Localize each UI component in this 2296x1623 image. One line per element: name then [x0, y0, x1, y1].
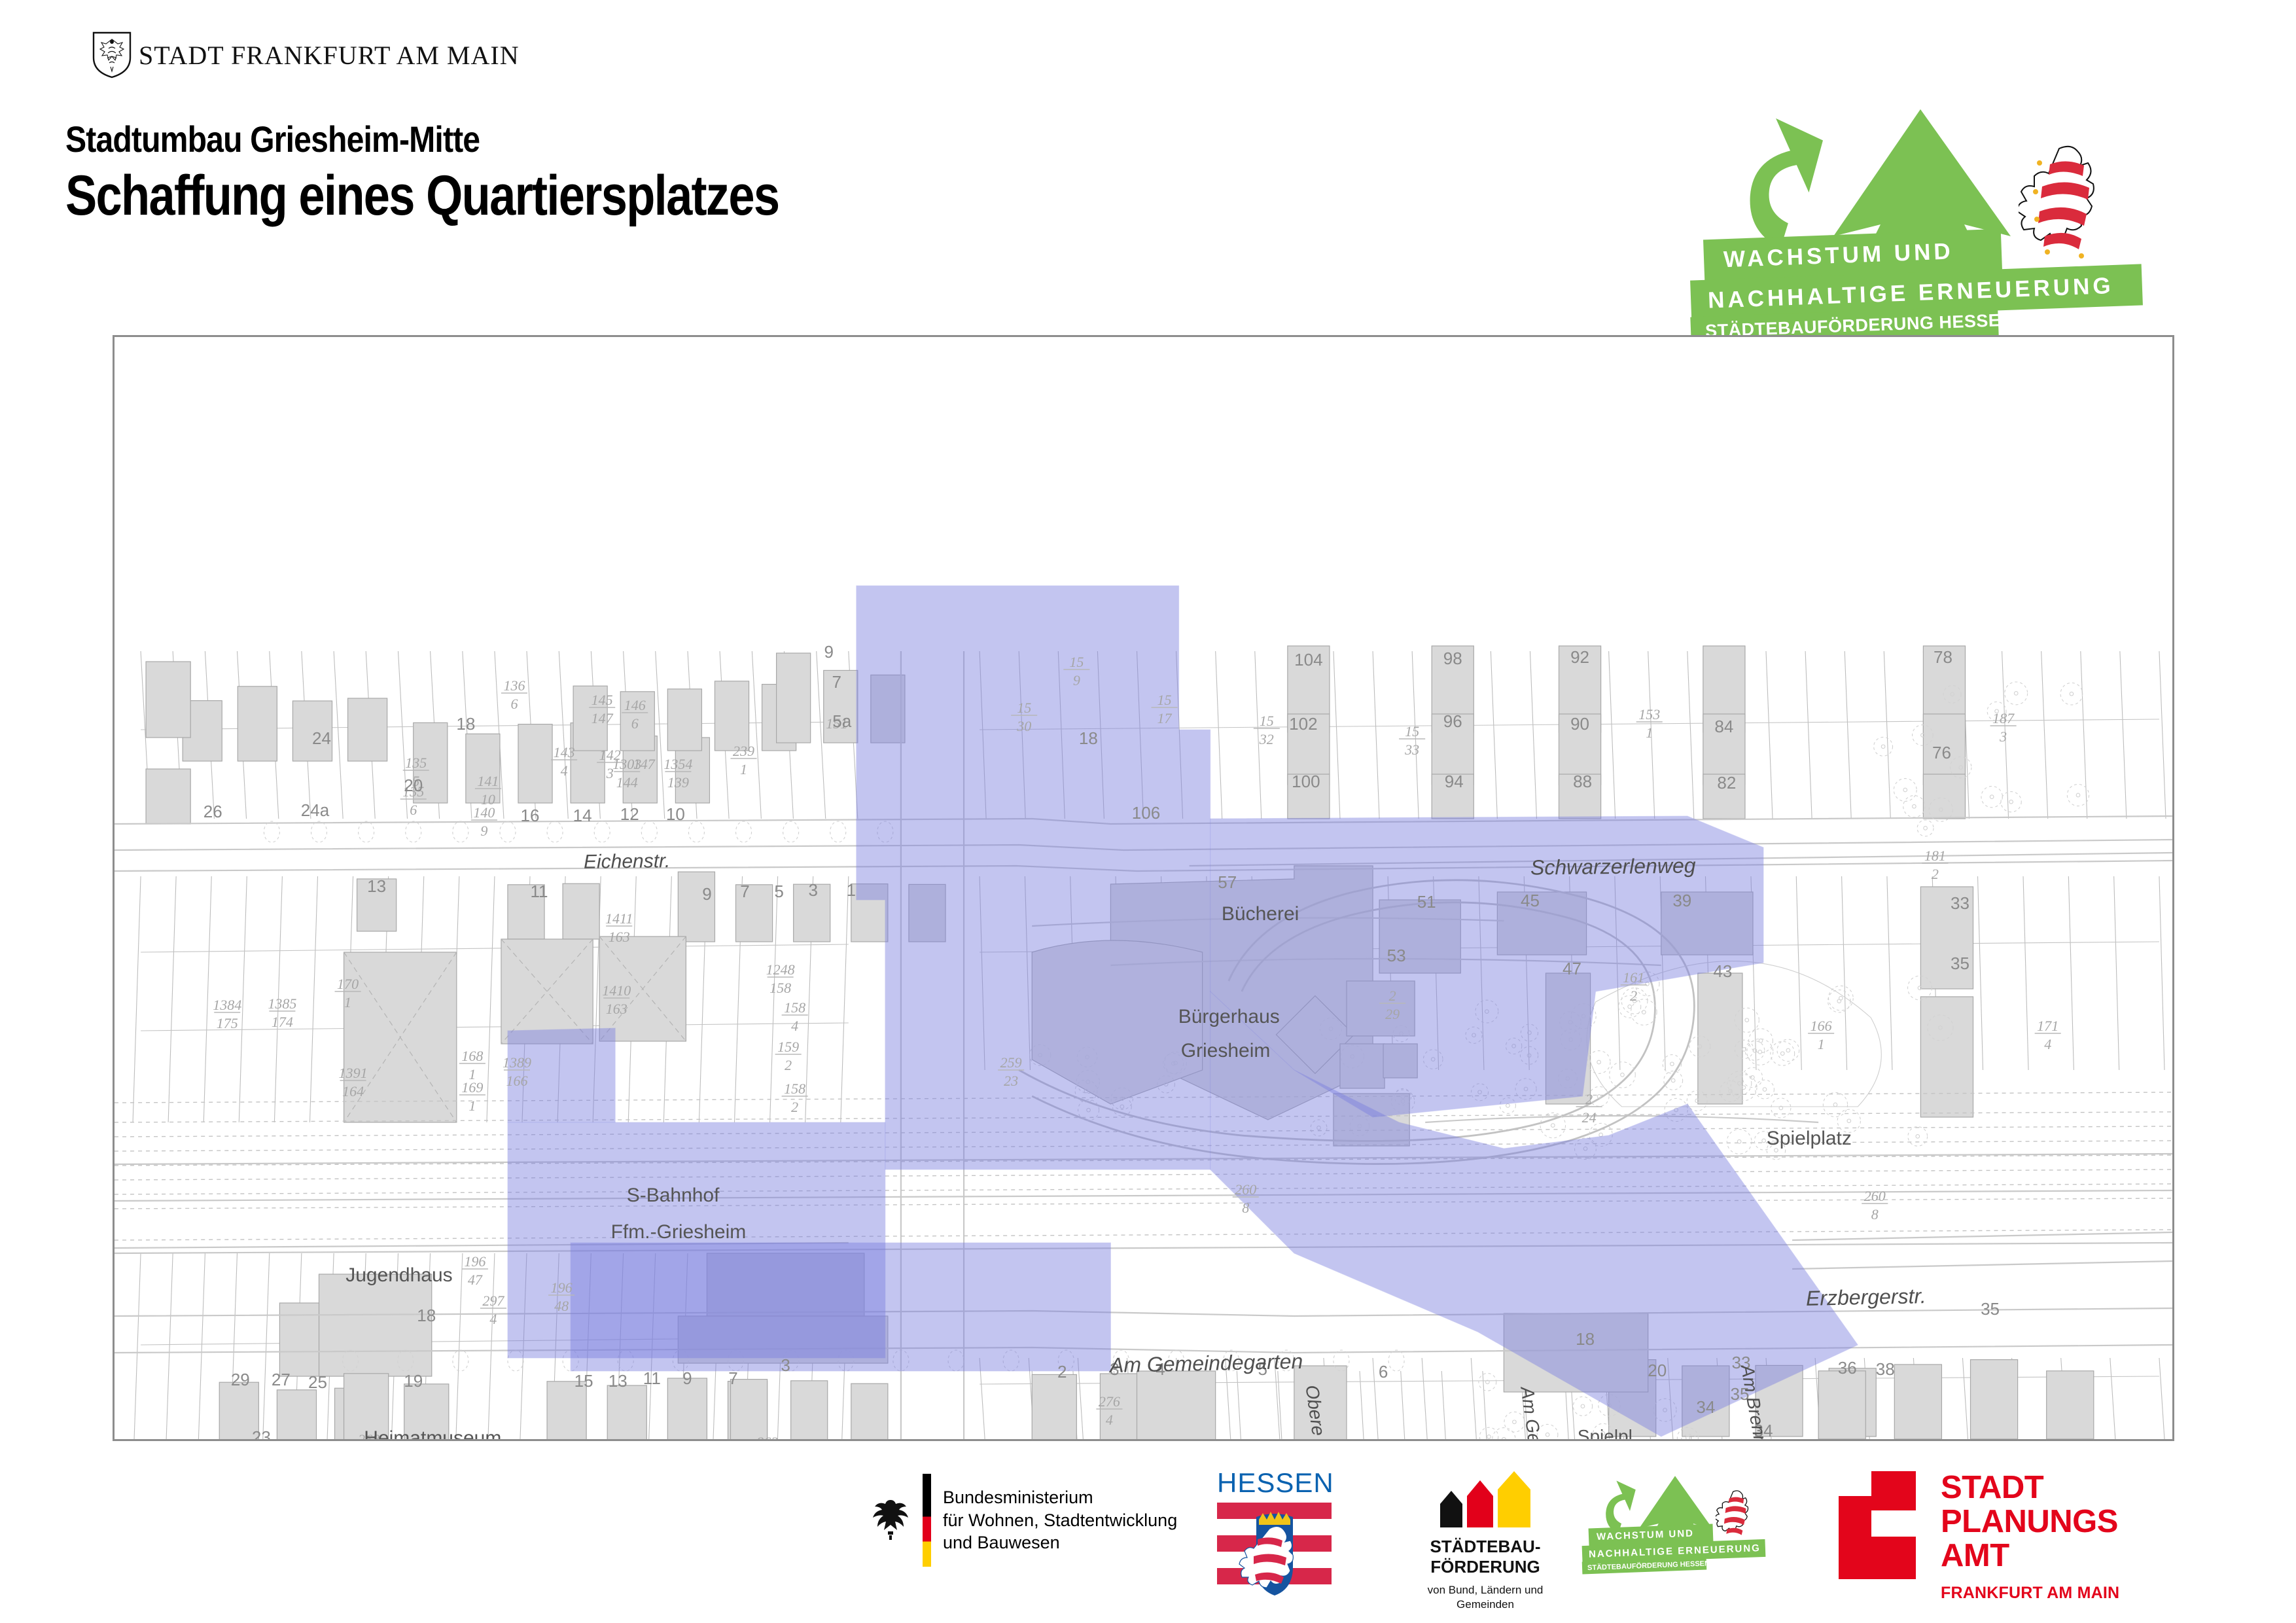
svg-text:1385: 1385 [268, 995, 296, 1012]
svg-text:11: 11 [531, 882, 548, 901]
wachstum-und-nachhaltige-erneuerung-logo: WACHSTUM UND NACHHALTIGE ERNEUERUNG STÄD… [1695, 111, 2192, 347]
staedtebau-line2: FÖRDERUNG [1407, 1557, 1564, 1577]
svg-text:8: 8 [1242, 1200, 1249, 1216]
svg-text:11: 11 [643, 1368, 661, 1388]
svg-text:27: 27 [272, 1370, 291, 1389]
svg-text:1411: 1411 [605, 910, 633, 927]
svg-text:175: 175 [217, 1015, 238, 1031]
svg-text:276: 276 [1099, 1393, 1120, 1410]
svg-text:5: 5 [774, 882, 783, 901]
svg-text:6: 6 [631, 715, 639, 732]
bmwsb-line2: für Wohnen, Stadtentwicklung [943, 1509, 1177, 1532]
staedtebau-sub2: Gemeinden [1407, 1597, 1564, 1612]
svg-text:144: 144 [616, 774, 638, 791]
hessen-shield-lion [1217, 1503, 1332, 1601]
svg-text:35: 35 [1951, 954, 1969, 973]
svg-text:3: 3 [1110, 1359, 1119, 1379]
svg-text:35: 35 [1730, 1384, 1749, 1404]
city-logo-stadt: STADT [139, 41, 224, 70]
svg-text:9: 9 [824, 642, 833, 662]
staedtebau-line1: STÄDTEBAU- [1407, 1537, 1564, 1557]
svg-text:48: 48 [554, 1298, 569, 1314]
svg-text:92: 92 [1570, 647, 1589, 667]
svg-text:164: 164 [342, 1083, 364, 1099]
svg-text:18: 18 [456, 714, 475, 734]
stadtplanungsamt-logo: STADT PLANUNGS AMT FRANKFURT AM MAIN [1839, 1471, 2119, 1603]
svg-text:10: 10 [666, 804, 685, 824]
svg-text:1: 1 [847, 880, 856, 900]
svg-text:171: 171 [2037, 1018, 2058, 1034]
svg-text:1354: 1354 [663, 756, 692, 772]
bmwsb-logo: Bundesministerium für Wohnen, Stadtentwi… [870, 1474, 1177, 1567]
spa-line3: AMT [1941, 1539, 2119, 1573]
map-vector-layer: 1366135513561354139239114110140914341423… [115, 337, 2172, 1439]
federal-eagle-icon [870, 1497, 911, 1543]
bmwsb-line3: und Bauwesen [943, 1531, 1177, 1554]
svg-text:30: 30 [1016, 718, 1031, 734]
svg-text:102: 102 [1289, 714, 1317, 734]
svg-text:169: 169 [461, 1079, 483, 1096]
svg-text:196: 196 [551, 1279, 573, 1296]
svg-text:2: 2 [1057, 1362, 1067, 1382]
svg-text:43: 43 [1713, 961, 1732, 981]
svg-text:24: 24 [1582, 1109, 1597, 1126]
svg-text:143: 143 [554, 744, 575, 760]
svg-text:96: 96 [1443, 711, 1462, 731]
svg-text:36: 36 [1838, 1358, 1857, 1378]
svg-text:187: 187 [1992, 710, 2015, 726]
svg-text:6: 6 [410, 802, 417, 818]
svg-text:38: 38 [1876, 1359, 1895, 1379]
svg-text:98: 98 [1443, 649, 1462, 668]
staedtebau-sub1: von Bund, Ländern und [1407, 1583, 1564, 1597]
svg-text:4: 4 [1106, 1412, 1113, 1428]
svg-text:2: 2 [1389, 988, 1396, 1004]
svg-text:15: 15 [1069, 654, 1084, 670]
svg-text:1389: 1389 [503, 1054, 531, 1071]
svg-text:9: 9 [702, 884, 711, 904]
house-yellow-icon [1498, 1471, 1530, 1527]
hessen-logo: HESSEN [1217, 1467, 1335, 1601]
svg-text:18: 18 [1079, 728, 1098, 748]
svg-text:163: 163 [609, 929, 630, 945]
svg-text:259: 259 [1000, 1054, 1022, 1071]
svg-text:26: 26 [203, 802, 222, 821]
spa-sub: FRANKFURT AM MAIN [1941, 1584, 2119, 1603]
svg-text:1: 1 [468, 1097, 476, 1114]
svg-text:1: 1 [740, 761, 747, 777]
city-logo-frankfurt: FRANKFURT AM MAIN [231, 41, 520, 70]
svg-text:7: 7 [740, 882, 749, 901]
svg-text:13: 13 [367, 876, 386, 896]
svg-text:136: 136 [503, 677, 525, 694]
svg-text:5a: 5a [832, 711, 851, 731]
wachstum-logo-small: WACHSTUM UND NACHHALTIGE ERNEUERUNG STÄD… [1583, 1475, 1780, 1573]
svg-text:16: 16 [521, 806, 540, 825]
svg-text:35: 35 [1981, 1299, 2000, 1319]
svg-text:47: 47 [468, 1272, 483, 1288]
svg-text:18: 18 [1576, 1329, 1595, 1349]
svg-text:32: 32 [1259, 731, 1274, 747]
staedtebau-label: STÄDTEBAU- FÖRDERUNG [1407, 1537, 1564, 1577]
svg-text:15: 15 [1260, 713, 1274, 729]
svg-text:6: 6 [510, 696, 518, 712]
svg-text:25: 25 [308, 1372, 327, 1392]
svg-text:104: 104 [1294, 650, 1322, 669]
svg-text:23: 23 [252, 1427, 271, 1439]
house-black-icon [1440, 1491, 1462, 1527]
svg-text:147: 147 [633, 756, 656, 772]
svg-text:1391: 1391 [339, 1065, 368, 1081]
svg-text:53: 53 [1387, 946, 1406, 965]
svg-text:1: 1 [1646, 724, 1653, 741]
svg-text:163: 163 [606, 1001, 627, 1017]
svg-text:9: 9 [1073, 672, 1080, 688]
svg-text:82: 82 [1717, 773, 1736, 793]
svg-text:166: 166 [1810, 1018, 1832, 1034]
poster-header: STADT FRANKFURT AM MAIN Stadtumbau Gries… [0, 0, 2296, 327]
svg-text:57: 57 [1218, 872, 1237, 892]
stadtplanungsamt-mark-icon [1839, 1471, 1916, 1579]
spa-line1: STADT [1941, 1471, 2119, 1505]
svg-text:4: 4 [2044, 1036, 2051, 1052]
cadastral-map[interactable]: 1366135513561354139239114110140914341423… [113, 335, 2174, 1441]
svg-text:2: 2 [1932, 866, 1939, 882]
svg-text:94: 94 [1445, 772, 1464, 791]
svg-text:4: 4 [489, 1311, 497, 1327]
svg-text:7: 7 [832, 672, 841, 692]
svg-text:24a: 24a [301, 800, 330, 820]
svg-text:166: 166 [506, 1073, 527, 1089]
svg-text:9: 9 [480, 823, 487, 839]
svg-text:23: 23 [1004, 1073, 1018, 1089]
svg-text:88: 88 [1573, 772, 1592, 791]
svg-text:29: 29 [231, 1370, 250, 1389]
svg-text:45: 45 [1521, 891, 1540, 910]
svg-text:139: 139 [667, 774, 689, 791]
svg-text:6: 6 [1379, 1362, 1388, 1382]
svg-text:34: 34 [1754, 1421, 1773, 1439]
svg-text:84: 84 [1714, 717, 1733, 736]
svg-text:863: 863 [798, 1436, 820, 1439]
svg-text:5: 5 [1258, 1359, 1267, 1379]
hessen-lion-icon-small [1716, 1488, 1752, 1542]
bmwsb-label: Bundesministerium für Wohnen, Stadtentwi… [943, 1486, 1177, 1554]
svg-text:270: 270 [395, 1436, 416, 1439]
svg-text:158: 158 [784, 1080, 805, 1097]
svg-text:145: 145 [592, 692, 613, 708]
poster-page: STADT FRANKFURT AM MAIN Stadtumbau Gries… [0, 0, 2296, 1623]
svg-text:3: 3 [1999, 728, 2007, 745]
svg-text:14: 14 [573, 806, 592, 825]
svg-text:106: 106 [1132, 803, 1160, 823]
svg-text:90: 90 [1570, 714, 1589, 734]
svg-text:2: 2 [1585, 1091, 1593, 1107]
svg-text:51: 51 [1417, 892, 1436, 912]
svg-text:181: 181 [1924, 847, 1946, 864]
svg-text:297: 297 [482, 1293, 504, 1309]
svg-text:15: 15 [574, 1371, 593, 1391]
svg-text:7: 7 [728, 1368, 737, 1388]
svg-text:100: 100 [1292, 772, 1320, 791]
svg-text:78: 78 [1934, 647, 1952, 667]
stadtplanungsamt-label: STADT PLANUNGS AMT FRANKFURT AM MAIN [1941, 1471, 2119, 1603]
three-houses-icon [1407, 1471, 1564, 1527]
hessen-wordmark: HESSEN [1217, 1467, 1335, 1499]
svg-text:15: 15 [1157, 692, 1172, 708]
city-logo-wordmark: STADT FRANKFURT AM MAIN [139, 40, 520, 71]
svg-text:33: 33 [1404, 741, 1419, 758]
svg-text:260: 260 [1235, 1181, 1256, 1198]
svg-text:147: 147 [592, 710, 614, 726]
svg-text:4: 4 [1156, 1359, 1165, 1379]
svg-text:2: 2 [1630, 988, 1637, 1004]
svg-text:33: 33 [1951, 893, 1969, 913]
svg-text:20: 20 [1648, 1361, 1667, 1380]
svg-text:153: 153 [1638, 706, 1660, 722]
svg-text:34: 34 [1696, 1397, 1715, 1417]
frankfurt-eagle-crest-icon [92, 31, 132, 79]
svg-text:4: 4 [561, 762, 568, 779]
svg-text:47: 47 [1563, 959, 1581, 978]
svg-text:140: 140 [473, 804, 495, 821]
svg-text:1248: 1248 [766, 961, 795, 978]
svg-text:29: 29 [1385, 1006, 1400, 1022]
spa-line2: PLANUNGS [1941, 1505, 2119, 1539]
svg-text:260: 260 [1864, 1188, 1886, 1204]
bmwsb-line1: Bundesministerium [943, 1486, 1177, 1509]
svg-text:862: 862 [756, 1434, 778, 1439]
city-of-frankfurt-logo: STADT FRANKFURT AM MAIN [92, 31, 520, 79]
svg-text:19: 19 [404, 1371, 423, 1391]
svg-text:2: 2 [791, 1099, 798, 1115]
svg-text:13: 13 [609, 1371, 627, 1391]
svg-text:1410: 1410 [602, 982, 631, 999]
poster-title: Schaffung eines Quartiersplatzes [65, 164, 779, 228]
svg-text:15: 15 [1017, 700, 1031, 716]
svg-text:24: 24 [312, 728, 331, 748]
svg-text:1: 1 [1818, 1036, 1825, 1052]
svg-text:3: 3 [781, 1355, 790, 1375]
svg-text:33: 33 [1731, 1353, 1750, 1372]
svg-text:268: 268 [358, 1431, 380, 1439]
svg-text:12: 12 [620, 804, 639, 824]
svg-text:17: 17 [1157, 710, 1173, 726]
svg-text:15: 15 [1405, 723, 1419, 740]
svg-text:158: 158 [784, 999, 805, 1016]
svg-text:20: 20 [404, 776, 423, 795]
svg-text:3: 3 [808, 880, 817, 900]
hessen-shield-icon [1217, 1503, 1332, 1601]
svg-text:8: 8 [1871, 1206, 1879, 1222]
svg-text:170: 170 [337, 976, 359, 992]
svg-text:174: 174 [272, 1014, 293, 1030]
svg-text:239: 239 [733, 743, 754, 759]
svg-text:18: 18 [417, 1306, 436, 1325]
german-flag-bar [923, 1474, 931, 1567]
svg-text:168: 168 [461, 1048, 483, 1064]
staedtebaufoerderung-logo: STÄDTEBAU- FÖRDERUNG von Bund, Ländern u… [1407, 1471, 1564, 1613]
funding-logo-strip: Bundesministerium für Wohnen, Stadtentwi… [0, 1459, 2296, 1623]
svg-text:141: 141 [477, 773, 499, 789]
svg-text:161: 161 [1623, 969, 1644, 986]
svg-text:1384: 1384 [213, 997, 241, 1013]
poster-subtitle: Stadtumbau Griesheim-Mitte [65, 118, 480, 160]
svg-text:196: 196 [464, 1253, 486, 1270]
svg-text:4: 4 [791, 1018, 798, 1034]
staedtebau-sublabel: von Bund, Ländern und Gemeinden [1407, 1583, 1564, 1612]
svg-text:76: 76 [1932, 743, 1951, 762]
svg-text:159: 159 [777, 1039, 799, 1055]
hessen-lion-icon [2019, 141, 2104, 265]
svg-text:1: 1 [344, 994, 351, 1010]
house-red-icon [1467, 1480, 1493, 1527]
svg-text:158: 158 [769, 980, 791, 996]
svg-text:39: 39 [1672, 891, 1691, 910]
svg-text:2: 2 [785, 1057, 792, 1073]
svg-text:135: 135 [405, 755, 427, 771]
svg-text:9: 9 [682, 1368, 692, 1388]
svg-text:146: 146 [624, 697, 646, 713]
